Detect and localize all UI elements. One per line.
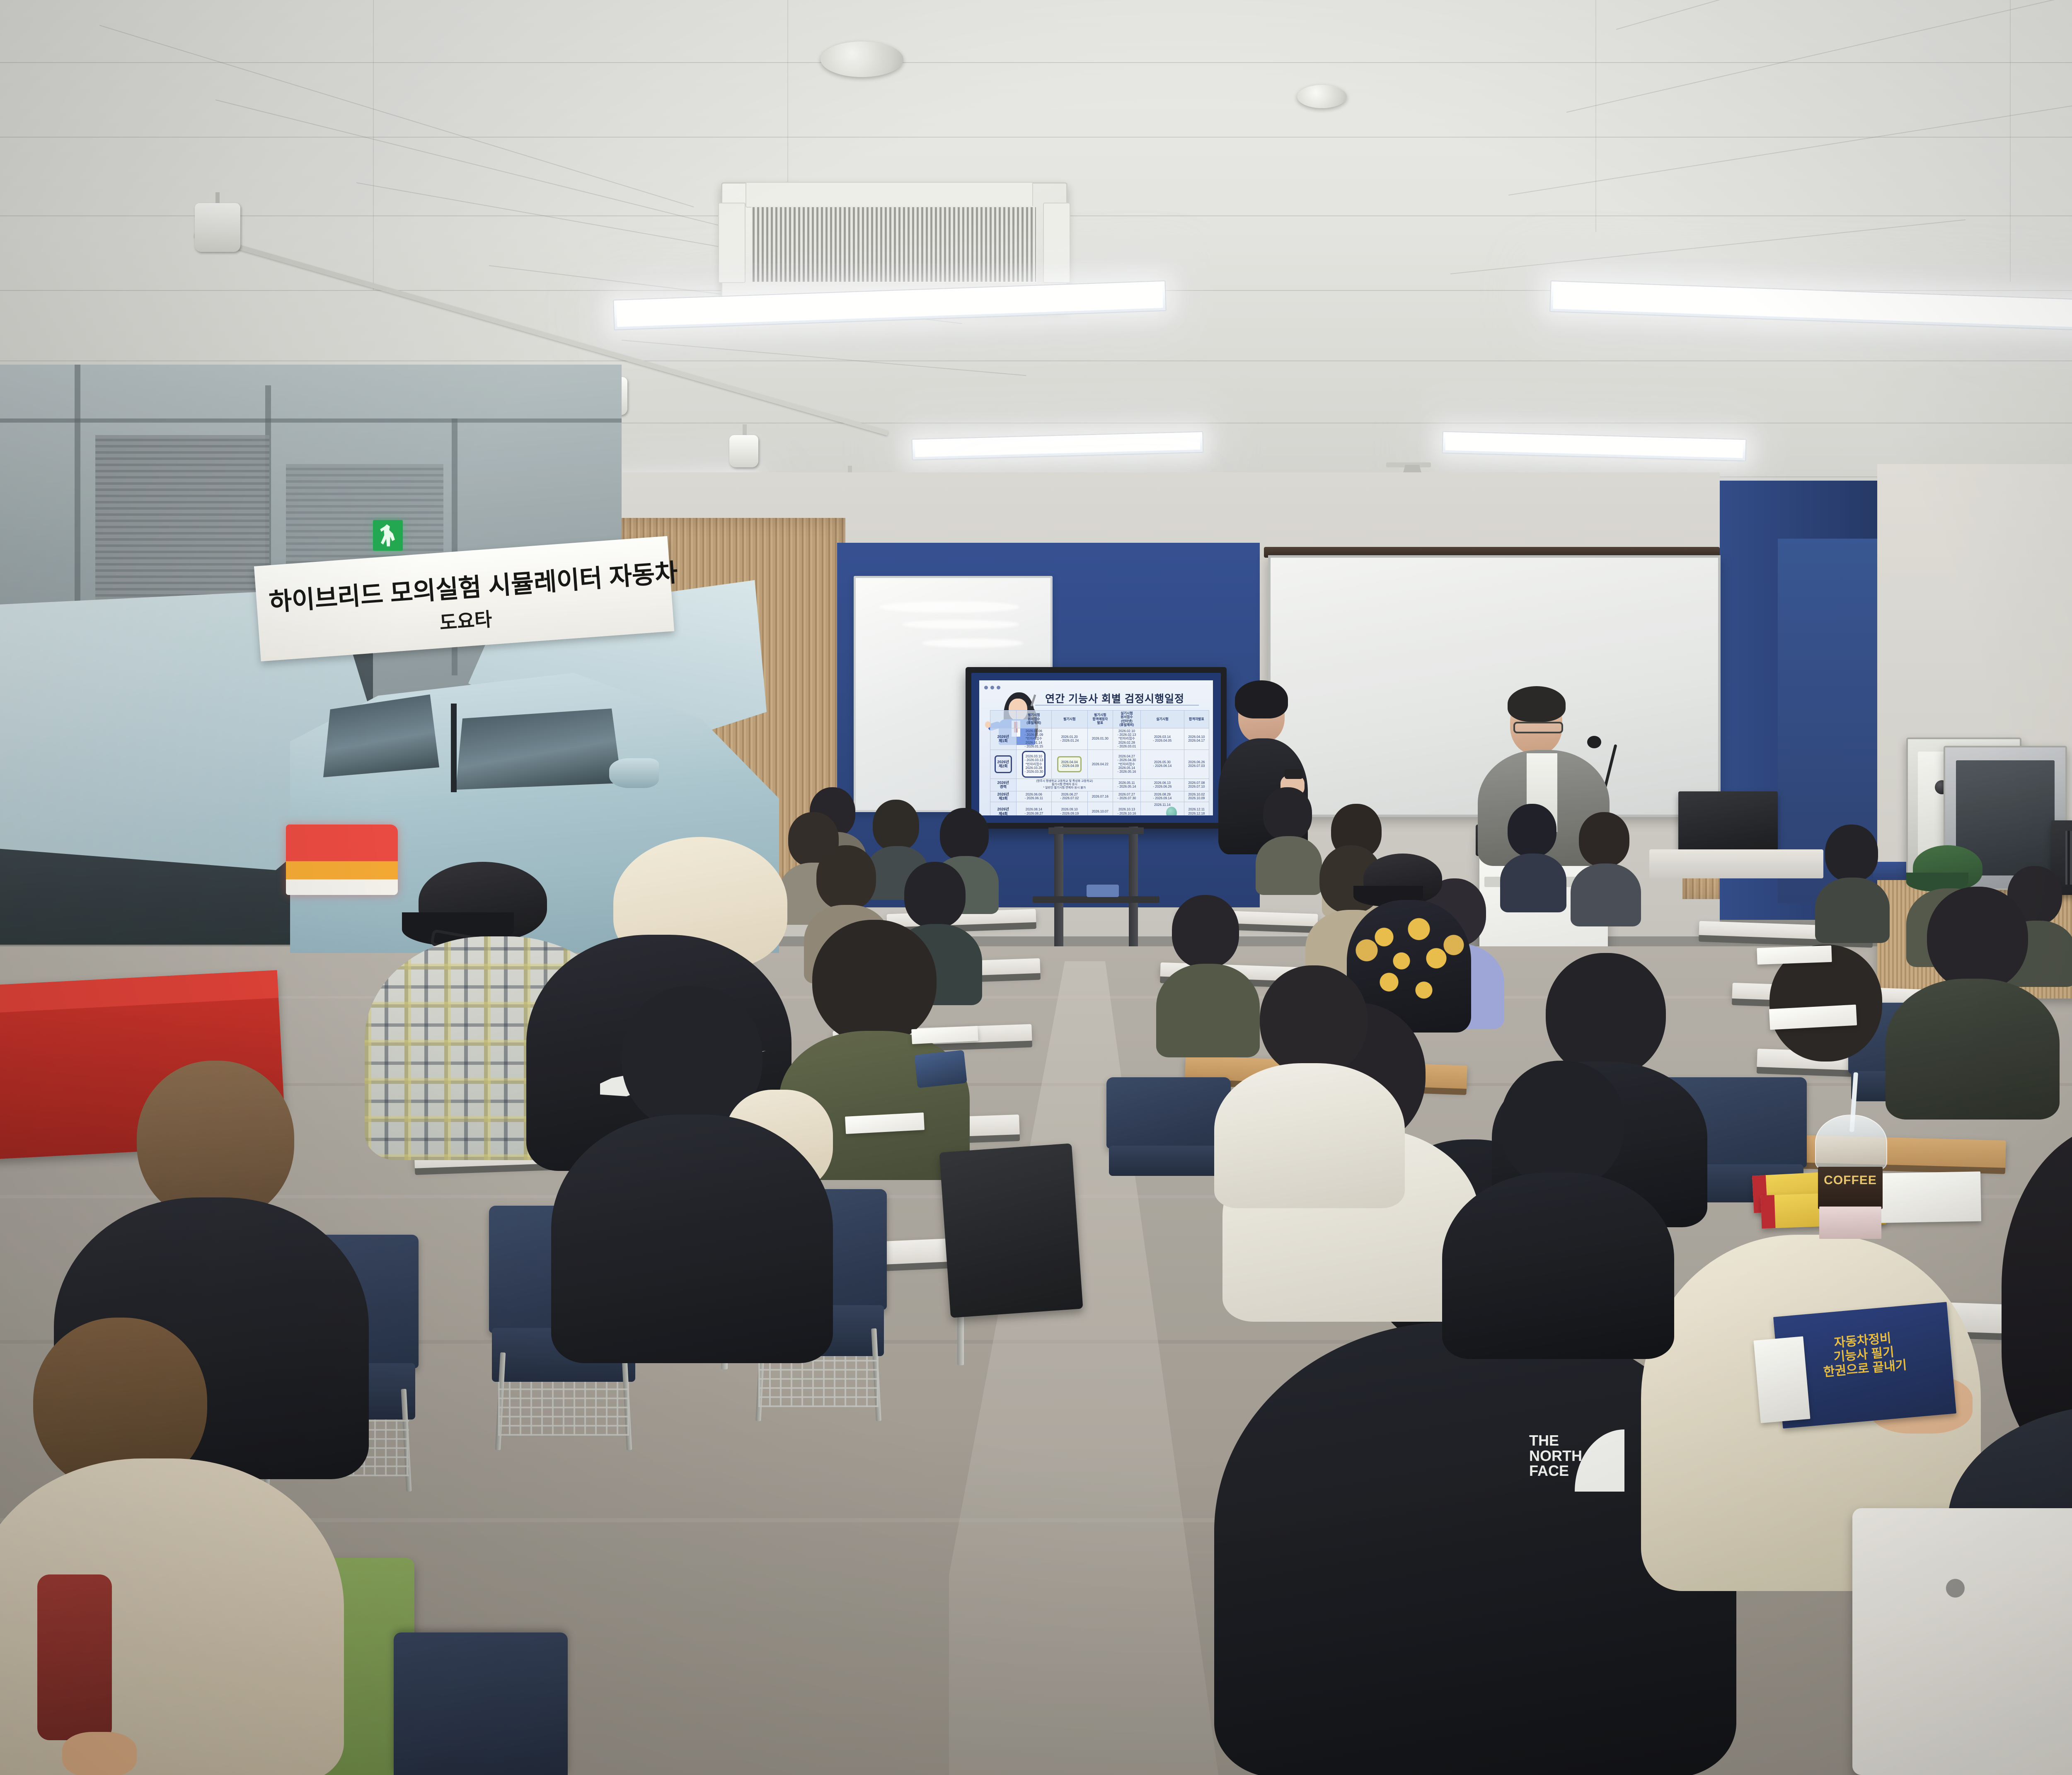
cell: 2026.09.10 - 2026.09.19 [1051,802,1087,815]
table-header-row: 필기시험 원서접수 (휴일제외) 필기시험 필기시험 합격예정자 발표 실기시험… [990,710,1209,728]
backpack [939,1143,1083,1318]
audience-member-beige-vest [0,1318,344,1775]
ceiling-light-panel [1549,281,2072,331]
cell: 2026.01.30 [1087,728,1113,750]
audience-member [1500,804,1566,907]
audience-member [1442,1061,1674,1351]
green-marker-dot-icon [1166,807,1177,815]
cell: 2026.10.07 [1087,802,1113,815]
ceiling-light-panel [911,431,1203,460]
audience-member [1886,887,2060,1110]
chair [1106,1077,1231,1214]
cell: 2026.05.30 - 2026.06.14 [1141,750,1184,779]
row-session: 2026년 제1회 [990,728,1016,750]
smartphone[interactable] [914,1050,967,1088]
tnf-line-2: NORTH [1529,1449,1582,1464]
textbook-title: 자동차정비 기능사 필기 한권으로 끝내기 [1789,1328,1939,1382]
patterned-blanket [1852,1508,2072,1775]
cell: 2026.11.14 - 2026.12.02 [1141,802,1184,815]
cell: 2026.06.27 - 2026.07.02 [1051,791,1087,802]
cell: 2026.06.26 2026.07.03 [1184,750,1209,779]
table-row: 2026년 제1회2026.01.06 - 2026.01.09 *빈자리접수 … [990,728,1209,750]
cell: 2026.12.11 2026.12.18 [1184,802,1209,815]
notebook [1754,1336,1811,1423]
car-side-mirror [609,758,659,788]
presentation-slide: 연간 기능사 회별 검정시행일정 필기시험 원서접수 (휴일제외) 필기시험 필… [979,680,1213,815]
cell: 2026.06.06 - 2026.06.11 [1017,791,1052,802]
cell: 2026.06.13 - 2026.06.26 [1141,779,1184,791]
cell: 2026.04.10 2026.04.17 [1184,728,1209,750]
audience-member [1571,812,1641,920]
col-0: 필기시험 원서접수 (휴일제외) [1017,710,1052,728]
presenter-glasses [1513,722,1563,733]
table-row: 2026년 제2회2026.03.10 - 2026.03.13 *빈자리접수 … [990,750,1209,779]
col-1: 필기시험 [1051,710,1087,728]
ceiling-light-panel [1442,431,1746,461]
desk-back-right [1649,849,1823,878]
col-session [990,710,1016,728]
row-merged-note: (영주시 평생학교 고등학교 및 특성화 고등학교) 필기시험 면제자 응시 *… [1017,779,1113,791]
cell: 2026.07.16 [1087,791,1113,802]
audience-member [551,986,833,1359]
cell: 2026.01.06 - 2026.01.09 *빈자리접수 2026.01.1… [1017,728,1052,750]
wristwatch [1285,769,1303,779]
tnf-line-3: FACE [1529,1463,1582,1479]
hand [62,1732,137,1775]
monitor-back-right [1678,791,1778,854]
handout [1757,946,1832,965]
cell: 2026.07.27 - 2026.07.30 [1113,791,1141,802]
cell: 2026.04.22 [1087,750,1113,779]
cell: 2026.08.29 - 2026.09.14 [1141,791,1184,802]
col-4: 실기시험 [1141,710,1184,728]
tnf-line-1: THE [1529,1433,1582,1449]
cell: 2026.01.20 - 2026.01.24 [1051,728,1087,750]
table-row: 2026년 제4회2026.08.14 - 2026.08.272026.09.… [990,802,1209,815]
cell: 2026.04.27 - 2026.04.30 *빈자리접수 2026.05.1… [1113,750,1141,779]
cell: 2026.10.13 - 2026.10.16 [1113,802,1141,815]
slide-schedule-table: 필기시험 원서접수 (휴일제외) 필기시험 필기시험 합격예정자 발표 실기시험… [990,710,1210,815]
audience-member [1815,825,1890,936]
table-row: 2026년 경력(영주시 평생학교 고등학교 및 특성화 고등학교) 필기시험 … [990,779,1209,791]
cell: 2026.04.04 - 2026.04.09 [1051,750,1087,779]
track-spotlight [729,435,758,467]
car-window-front [456,707,622,790]
cell: 2026.07.08 2026.07.10 [1184,779,1209,791]
audience-member [1214,965,1405,1197]
row-session: 2026년 제2회 [990,750,1016,779]
cell: 2026.03.14 - 2026.04.05 [1141,728,1184,750]
emergency-exit-sign [373,520,403,551]
black-baseball-cap [1363,854,1442,903]
cell: 2026.10.02 2026.10.09 [1184,791,1209,802]
cell: 2026.03.10 - 2026.03.13 *빈자리접수 2026.03.2… [1017,750,1052,779]
iced-coffee-cup: COFFEE [1815,1115,1886,1239]
classroom-photo-scene: 연간 기능사 회별 검정시행일정 필기시험 원서접수 (휴일제외) 필기시험 필… [0,0,2072,1775]
north-face-logo: THE NORTH FACE [1529,1429,1624,1492]
cell: 2026.05.11 - 2026.05.14 [1113,779,1141,791]
cup-sleeve-label: COFFEE [1818,1173,1883,1187]
cell: 2026.02.10 - 2026.02.13 *빈자리접수 2026.02.2… [1113,728,1141,750]
col-2: 필기시험 합격예정자 발표 [1087,710,1113,728]
col-3: 실기시험 원서접수 (인터넷) (휴일제외) [1113,710,1141,728]
remote-on-stand [1087,885,1119,897]
slide-window-dots-icon [984,686,1000,689]
car-window-rear [323,694,439,777]
roller-shutter [95,435,269,609]
row-session: 2026년 제3회 [990,791,1016,802]
navy-chair-front-left [394,1632,568,1775]
smoke-detector-icon [1297,85,1347,108]
presentation-display[interactable]: 연간 기능사 회별 검정시행일정 필기시험 원서접수 (휴일제외) 필기시험 필… [966,667,1227,829]
row-session: 2026년 경력 [990,779,1016,791]
cell: 2026.08.14 - 2026.08.27 [1017,802,1052,815]
smoke-detector-icon [821,41,903,77]
slide-title: 연간 기능사 회별 검정시행일정 [1031,691,1199,706]
col-5: 합격자발표 [1184,710,1209,728]
track-spotlight [195,203,240,252]
red-sleeve [37,1574,112,1740]
table-row: 2026년 제3회2026.06.06 - 2026.06.112026.06.… [990,791,1209,802]
green-baseball-cap [1913,845,1982,890]
